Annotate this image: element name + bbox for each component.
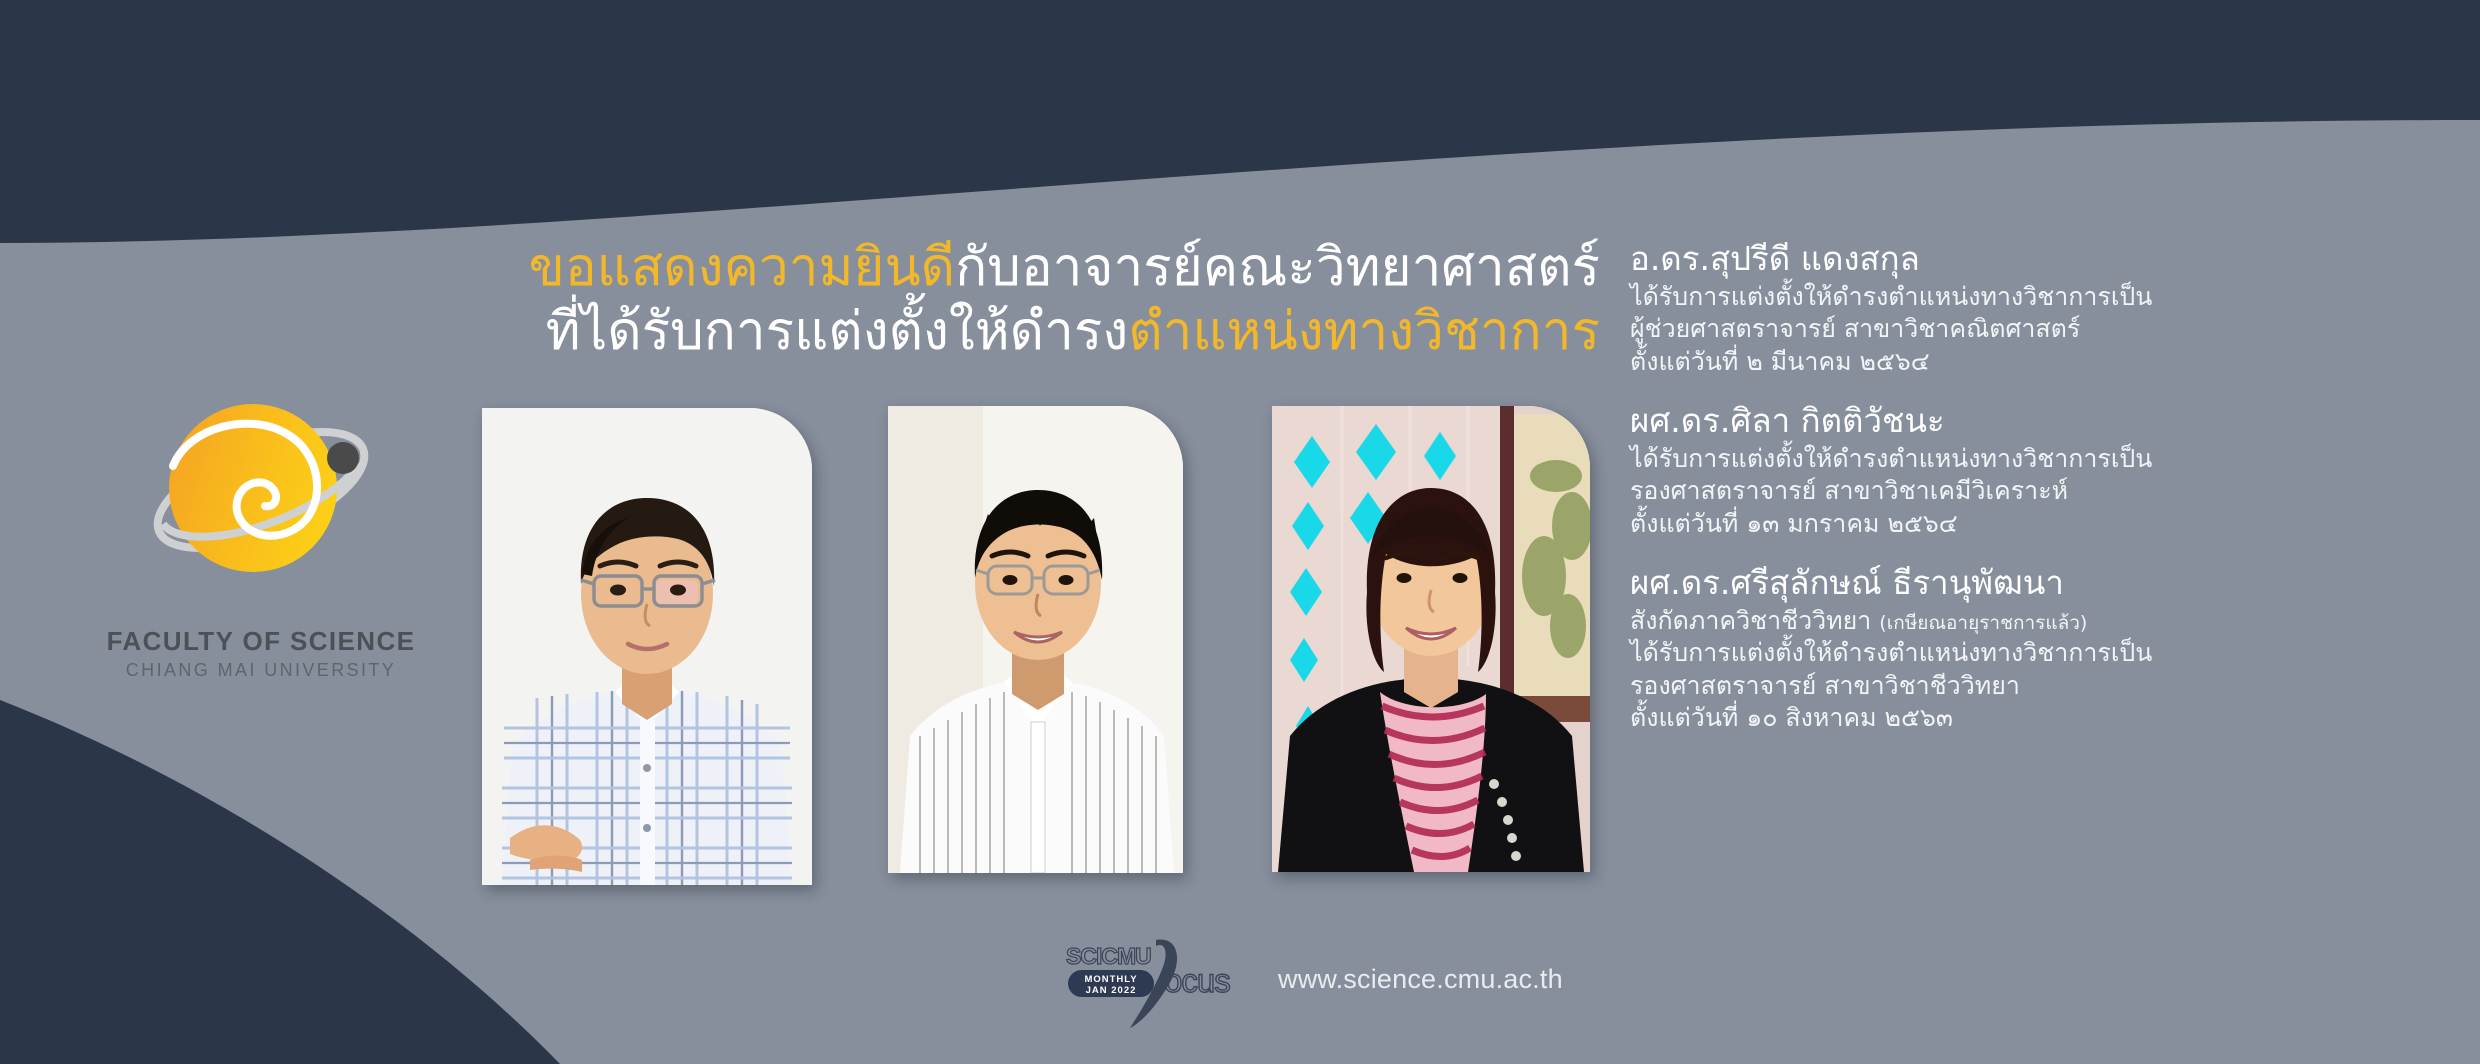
headline-line-2: ที่ได้รับการแต่งตั้งให้ดำรงตำแหน่งทางวิช…: [400, 300, 1600, 364]
scicmu-focus-logo: SCICMU MONTHLY JAN 2022 ocus: [1060, 930, 1260, 1028]
person-entry-1: อ.ดร.สุปรีดี แดงสกุล ได้รับการแต่งตั้งให…: [1630, 238, 2420, 378]
faculty-logo-block: FACULTY OF SCIENCE CHIANG MAI UNIVERSITY: [96, 390, 426, 681]
person-3-retirement-note: (เกษียณอายุราชการแล้ว): [1879, 612, 2087, 634]
person-3-line-1: ได้รับการแต่งตั้งให้ดำรงตำแหน่งทางวิชากา…: [1630, 637, 2420, 670]
headline: ขอแสดงความยินดีกับอาจารย์คณะวิทยาศาสตร์ …: [400, 236, 1600, 363]
headline-line-1: ขอแสดงความยินดีกับอาจารย์คณะวิทยาศาสตร์: [400, 236, 1600, 300]
person-3-name: ผศ.ดร.ศรีสุลักษณ์ ธีรานุพัฒนา: [1630, 562, 2420, 604]
poster-canvas: FACULTY OF SCIENCE CHIANG MAI UNIVERSITY…: [0, 0, 2480, 1064]
announcement-list: อ.ดร.สุปรีดี แดงสกุล ได้รับการแต่งตั้งให…: [1630, 238, 2420, 735]
headline-line-2-rest: ที่ได้รับการแต่งตั้งให้ดำรง: [546, 301, 1129, 362]
person-1-line-3: ตั้งแต่วันที่ ๒ มีนาคม ๒๕๖๔: [1630, 346, 2420, 379]
electron-dot-icon: [327, 442, 359, 474]
monthly-badge-line-1: MONTHLY: [1084, 974, 1137, 985]
person-entry-2: ผศ.ดร.ศิลา กิตติวัชนะ ได้รับการแต่งตั้งใ…: [1630, 400, 2420, 540]
person-2-name: ผศ.ดร.ศิลา กิตติวัชนะ: [1630, 400, 2420, 442]
logo-subtitle: CHIANG MAI UNIVERSITY: [96, 660, 426, 681]
person-2-line-1: ได้รับการแต่งตั้งให้ดำรงตำแหน่งทางวิชากา…: [1630, 443, 2420, 476]
website-url: www.science.cmu.ac.th: [1278, 964, 1563, 995]
portrait-photo-2: [888, 406, 1183, 873]
faculty-of-science-cmu-emblem: [141, 390, 381, 620]
person-entry-3: ผศ.ดร.ศรีสุลักษณ์ ธีรานุพัฒนา สังกัดภาคว…: [1630, 562, 2420, 735]
person-3-line-3: ตั้งแต่วันที่ ๑๐ สิงหาคม ๒๕๖๓: [1630, 702, 2420, 735]
person-3-line-2: รองศาสตราจารย์ สาขาวิชาชีววิทยา: [1630, 670, 2420, 703]
person-1-name: อ.ดร.สุปรีดี แดงสกุล: [1630, 238, 2420, 280]
portrait-srisulak-dheeranupattana: [1272, 406, 1590, 872]
footer: SCICMU MONTHLY JAN 2022 ocus www.science…: [1060, 930, 1563, 1028]
portrait-sila-kittiwachana: [888, 406, 1183, 873]
person-1-line-2: ผู้ช่วยศาสตราจารย์ สาขาวิชาคณิตศาสตร์: [1630, 313, 2420, 346]
headline-line-2-accent: ตำแหน่งทางวิชาการ: [1128, 301, 1600, 362]
portrait-photo-1: [482, 408, 812, 885]
scicmu-wordmark: SCICMU: [1066, 943, 1151, 969]
person-3-affiliation: สังกัดภาควิชาชีววิทยา: [1630, 606, 1871, 635]
headline-line-1-accent: ขอแสดงความยินดี: [529, 237, 955, 298]
sun-sphere-icon: [169, 404, 337, 572]
portrait-photo-3: [1272, 406, 1590, 872]
person-1-line-1: ได้รับการแต่งตั้งให้ดำรงตำแหน่งทางวิชากา…: [1630, 281, 2420, 314]
monthly-badge-line-2: JAN 2022: [1086, 985, 1137, 996]
logo-title: FACULTY OF SCIENCE: [96, 626, 426, 657]
focus-wordmark: ocus: [1164, 962, 1230, 999]
person-2-line-2: รองศาสตราจารย์ สาขาวิชาเคมีวิเคราะห์: [1630, 475, 2420, 508]
person-2-line-3: ตั้งแต่วันที่ ๑๓ มกราคม ๒๕๖๔: [1630, 508, 2420, 541]
person-3-affiliation-row: สังกัดภาควิชาชีววิทยา (เกษียณอายุราชการแ…: [1630, 605, 2420, 638]
portrait-supreedee-dangsakul: [482, 408, 812, 885]
headline-line-1-rest: กับอาจารย์คณะวิทยาศาสตร์: [955, 237, 1600, 298]
